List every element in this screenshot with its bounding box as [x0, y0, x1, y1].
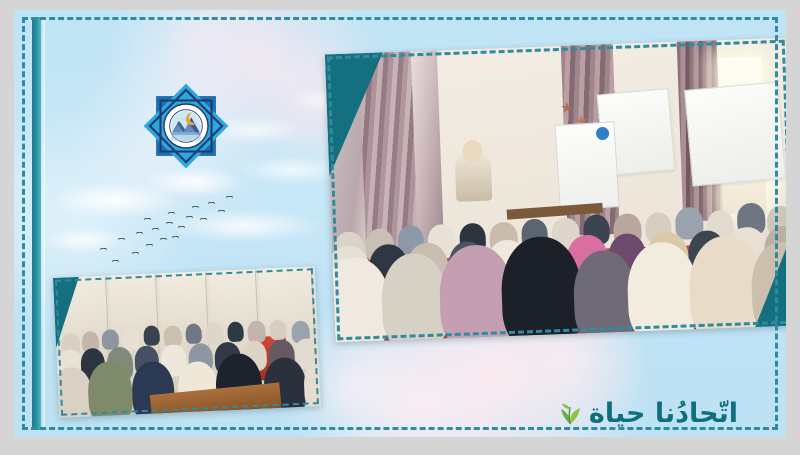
corner-accent-bottom-right — [752, 230, 786, 327]
left-accent-highlight — [43, 17, 45, 430]
left-accent-bar — [32, 17, 41, 430]
organization-emblem-icon — [142, 82, 230, 170]
leaf-icon — [557, 400, 583, 426]
poster-canvas: اتّحادُنا حياة — [0, 0, 800, 455]
tagline: اتّحادُنا حياة — [562, 392, 738, 434]
birds-flock — [74, 188, 244, 268]
corner-accent-top-left — [53, 277, 82, 348]
attendees-photo — [53, 266, 321, 418]
corner-accent-top-left — [325, 52, 387, 176]
main-classroom-photo — [325, 38, 786, 343]
poster-card: اتّحادُنا حياة — [14, 10, 786, 437]
tagline-text: اتّحادُنا حياة — [589, 400, 738, 427]
